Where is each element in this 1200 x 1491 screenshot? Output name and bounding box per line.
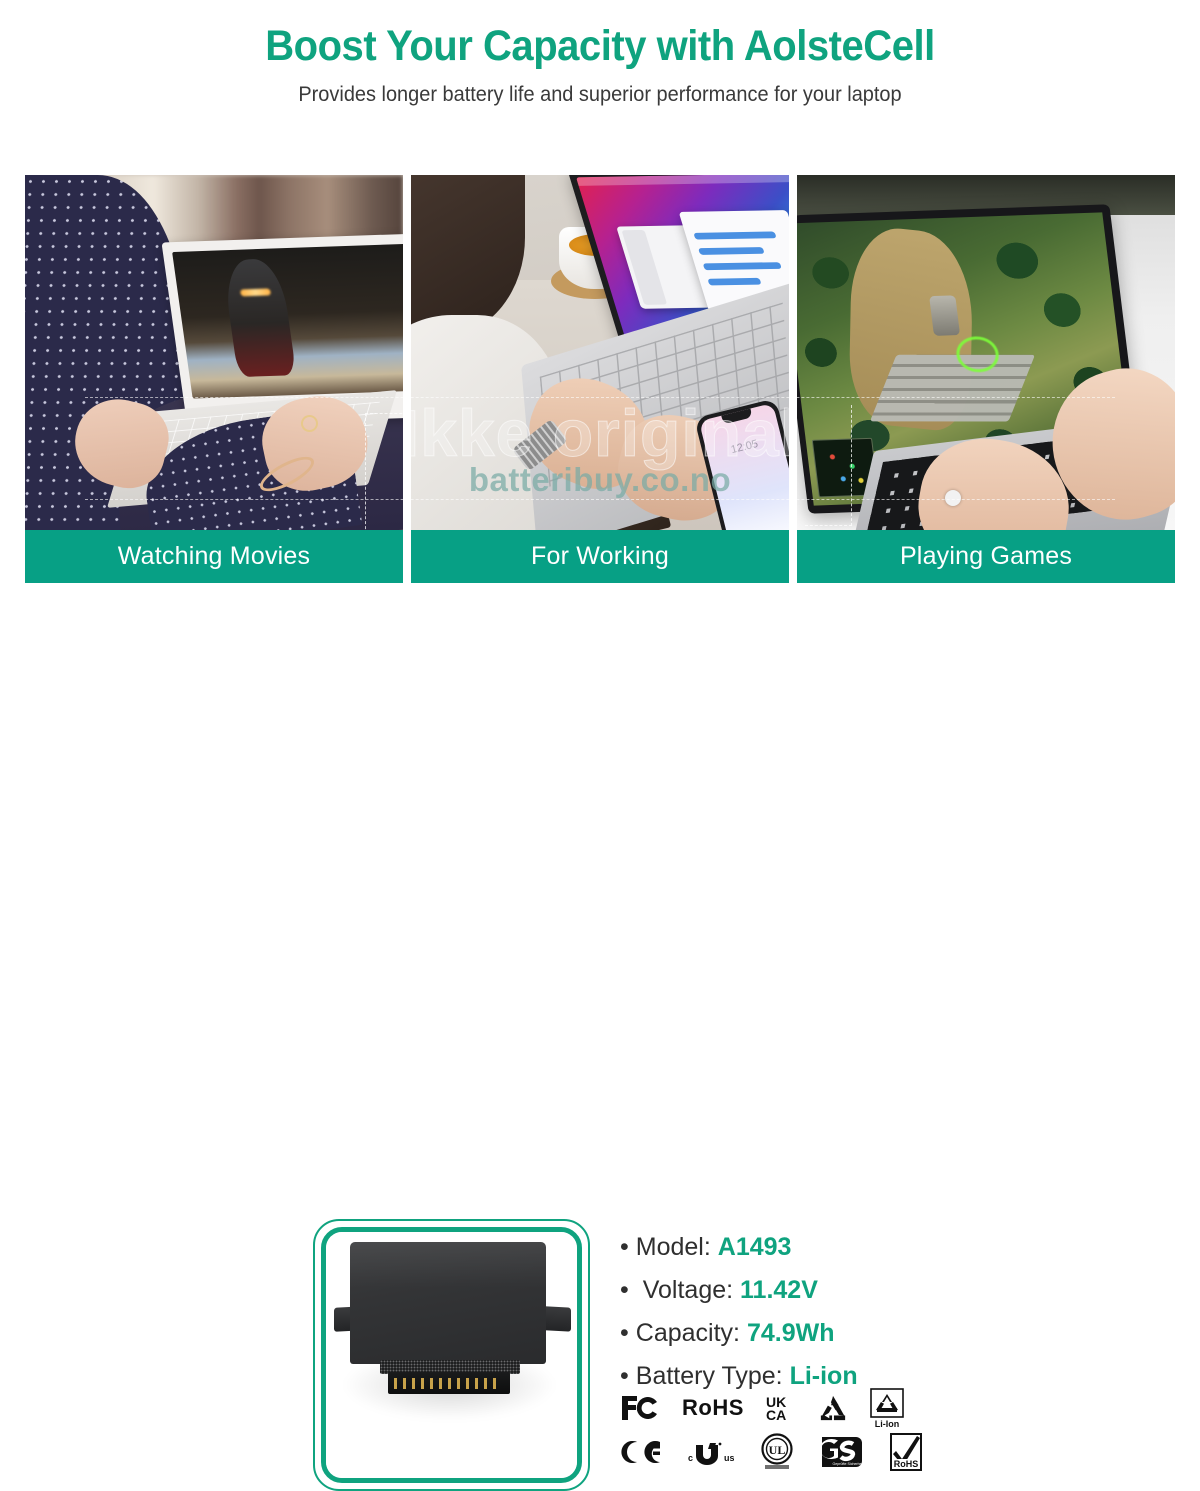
feature-card-watching-movies[interactable]: Watching Movies <box>25 175 403 583</box>
card-label-watching-movies: Watching Movies <box>25 530 403 583</box>
battery-body <box>350 1242 546 1364</box>
card-label-playing-games: Playing Games <box>797 530 1175 583</box>
recycle-icon <box>818 1394 848 1422</box>
spec-value: A1493 <box>718 1233 792 1261</box>
svg-text:UL: UL <box>769 1443 786 1457</box>
movie-character-eyes <box>240 288 271 296</box>
certification-badge-row-2: c us UL <box>620 1430 920 1474</box>
game-stone-steps <box>870 355 1035 422</box>
svg-text:RoHS: RoHS <box>894 1459 919 1469</box>
c-ul-us-icon: c us <box>688 1439 734 1465</box>
bullet-icon: • <box>620 1276 629 1304</box>
promo-page: Boost Your Capacity with AolsteCell Prov… <box>0 0 1200 900</box>
battery-gold-pins <box>394 1378 498 1389</box>
battery-image-frame-inner <box>321 1227 582 1483</box>
battery-image-frame <box>313 1219 590 1491</box>
feature-card-row: Watching Movies <box>25 175 1175 583</box>
finger-ring <box>945 490 961 506</box>
laptop-screen <box>172 243 403 398</box>
product-detail-section: •Model: A1493 • Voltage: 11.42V •Capacit… <box>0 600 1200 900</box>
spec-capacity: •Capacity: 74.9Wh <box>620 1318 950 1348</box>
fcc-icon <box>620 1394 660 1422</box>
feature-card-playing-games[interactable]: Playing Games <box>797 175 1175 583</box>
card-photo-for-working: 12:05 <box>411 175 789 530</box>
page-subtitle: Provides longer battery life and superio… <box>30 83 1170 107</box>
ukca-icon: UK CA <box>766 1394 796 1422</box>
spec-list: •Model: A1493 • Voltage: 11.42V •Capacit… <box>620 1232 950 1404</box>
window-row <box>698 247 765 255</box>
gs-icon: Geprüfte Sicherheit <box>820 1435 864 1469</box>
feature-card-for-working[interactable]: 12:05 For Working <box>411 175 789 583</box>
window-row <box>703 262 782 270</box>
spec-voltage: • Voltage: 11.42V <box>620 1275 950 1305</box>
li-ion-recycle-icon: Li-Ion <box>870 1388 904 1428</box>
ul-circle-icon: UL <box>760 1433 794 1471</box>
spec-label: Model: <box>636 1233 711 1261</box>
certification-badges: RoHS UK CA <box>620 1386 920 1474</box>
macos-menubar <box>576 175 789 186</box>
rohs-check-icon: RoHS <box>890 1433 922 1471</box>
rohs-icon: RoHS <box>682 1395 744 1421</box>
svg-text:Li-Ion: Li-Ion <box>875 1419 900 1428</box>
spec-label: Capacity: <box>636 1319 740 1347</box>
bullet-icon: • <box>620 1319 629 1347</box>
movie-character <box>222 258 297 377</box>
window-row <box>693 231 776 239</box>
svg-text:CA: CA <box>766 1407 786 1422</box>
window-row <box>707 278 761 286</box>
card-photo-playing-games <box>797 175 1175 530</box>
spec-value: 74.9Wh <box>747 1319 835 1347</box>
svg-text:us: us <box>724 1453 734 1463</box>
card-label-for-working: For Working <box>411 530 789 583</box>
certification-badge-row-1: RoHS UK CA <box>620 1386 920 1430</box>
game-tower <box>929 295 960 336</box>
svg-text:Geprüfte Sicherheit: Geprüfte Sicherheit <box>833 1462 864 1466</box>
page-title: Boost Your Capacity with AolsteCell <box>42 24 1158 69</box>
battery-product-image <box>326 1232 577 1478</box>
page-header: Boost Your Capacity with AolsteCell Prov… <box>0 0 1200 107</box>
svg-text:c: c <box>688 1453 693 1463</box>
ce-icon <box>620 1438 662 1466</box>
card-photo-watching-movies <box>25 175 403 530</box>
bullet-icon: • <box>620 1233 629 1261</box>
spec-label: Voltage: <box>636 1276 733 1304</box>
spec-model: •Model: A1493 <box>620 1232 950 1262</box>
spec-value: 11.42V <box>740 1276 818 1304</box>
